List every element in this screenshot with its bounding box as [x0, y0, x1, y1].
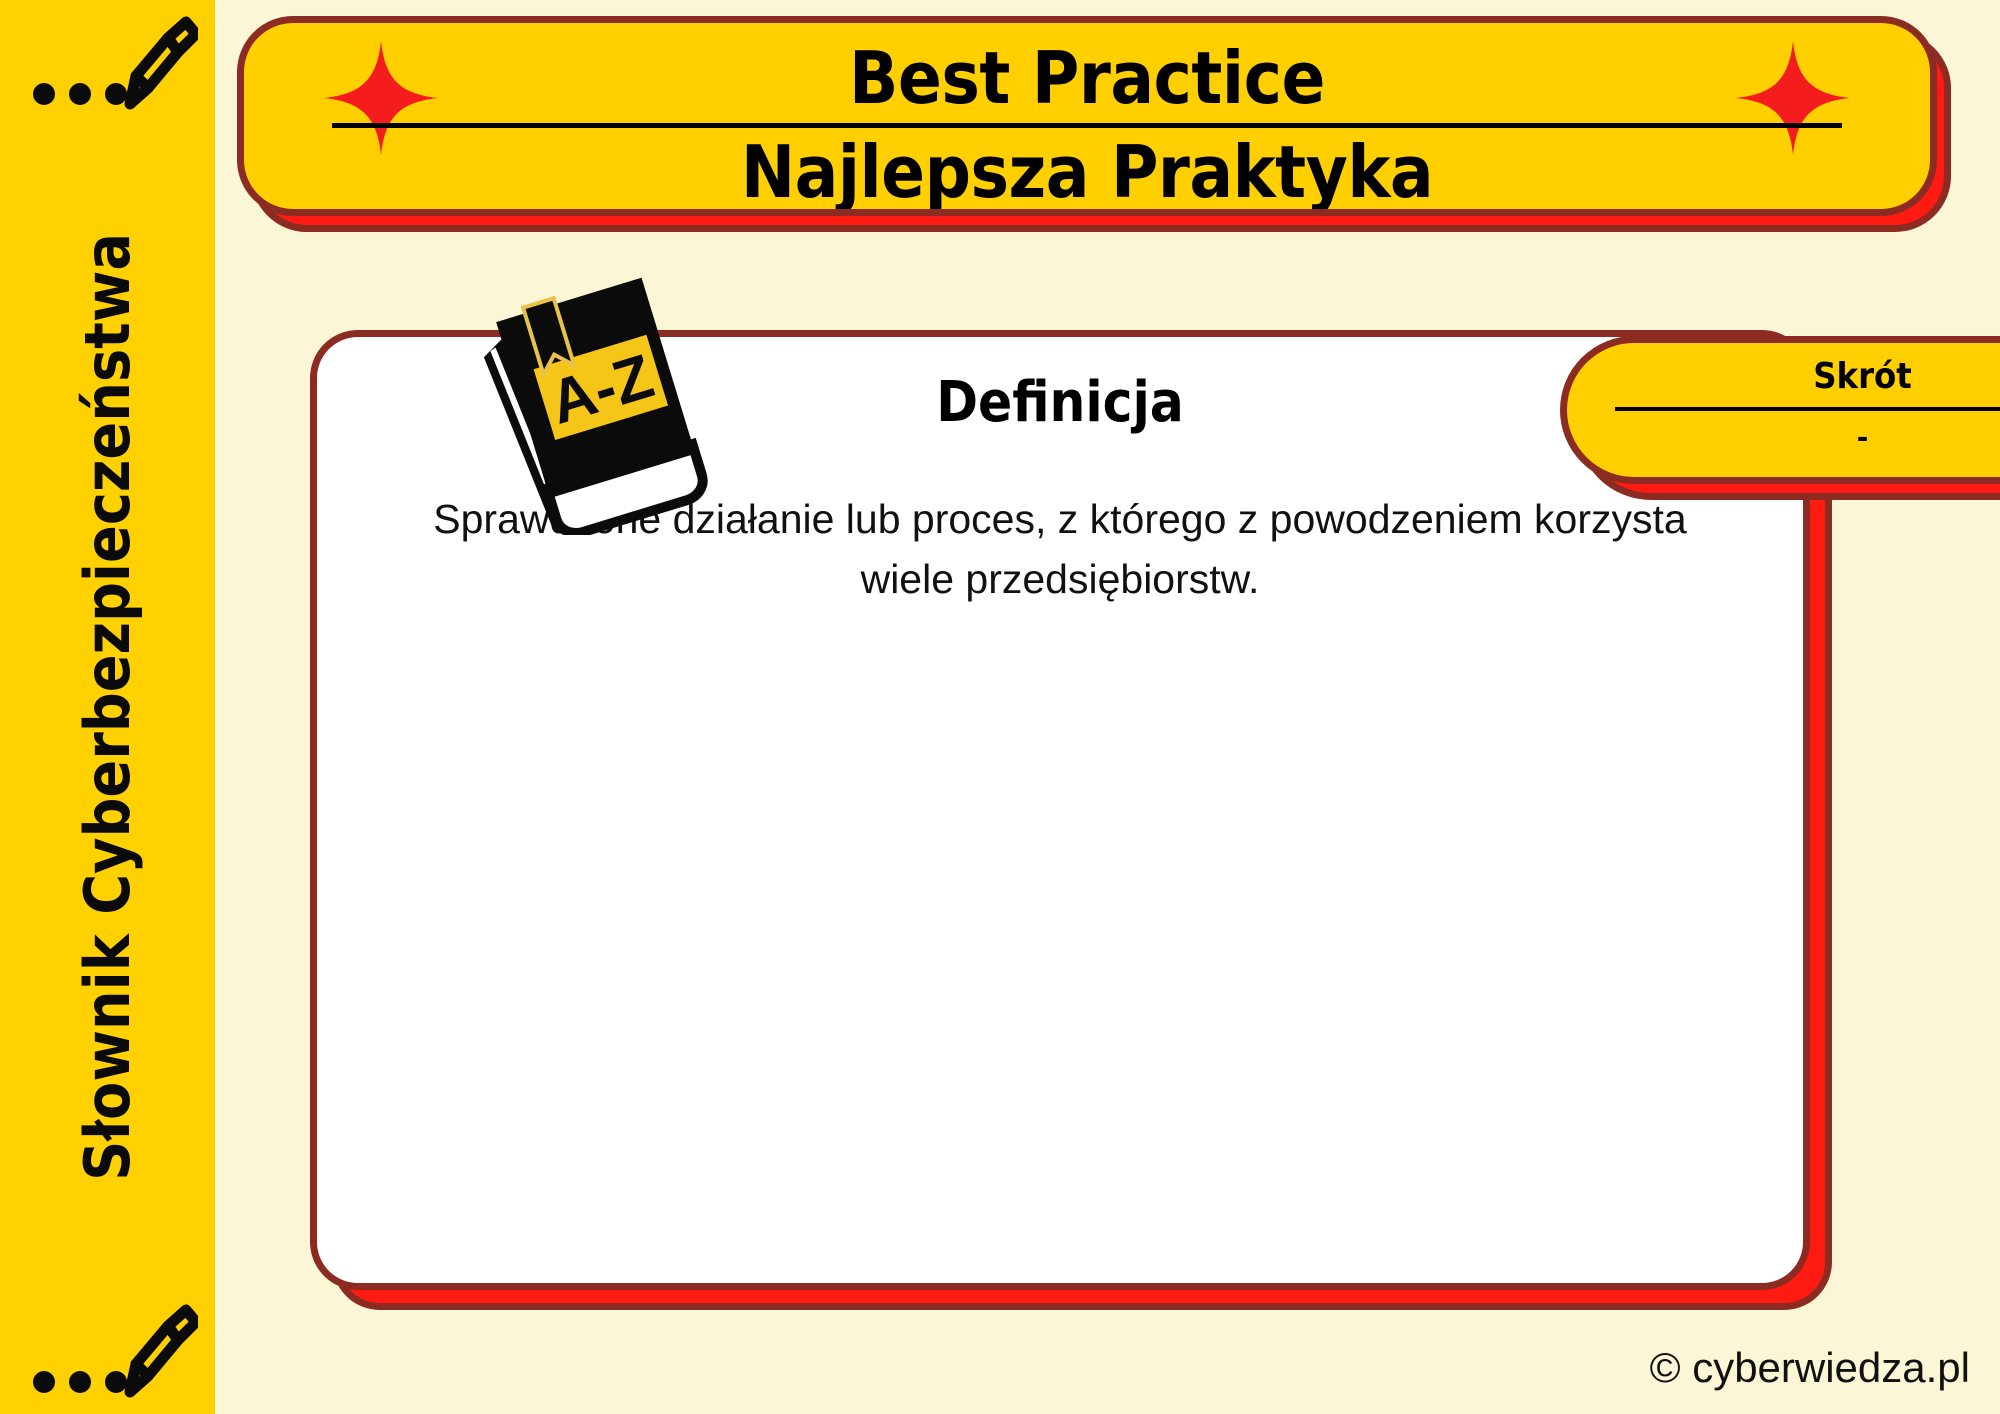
abbreviation-divider: [1615, 407, 2000, 411]
header-divider: [332, 123, 1842, 128]
sidebar-title: Słownik Cyberbezpieczeństwa: [0, 0, 215, 1414]
abbreviation-badge: Skrót -: [1560, 336, 2000, 484]
content-stage: Best Practice Najlepsza Praktyka Definic…: [215, 0, 2000, 1414]
az-book-icon: A-Z: [460, 255, 740, 535]
term-header-card: Best Practice Najlepsza Praktyka: [237, 16, 1937, 216]
footer-copyright: © cyberwiedza.pl: [1650, 1344, 1970, 1392]
abbreviation-label: Skrót: [1567, 357, 2000, 397]
term-polish: Najlepsza Praktyka: [324, 132, 1850, 212]
abbreviation-value: -: [1567, 415, 2000, 459]
term-english: Best Practice: [324, 39, 1850, 117]
sidebar: Słownik Cyberbezpieczeństwa: [0, 0, 215, 1414]
pencil-icon: [18, 1296, 198, 1406]
sidebar-bottom-decoration: [18, 1296, 198, 1406]
sidebar-title-text: Słownik Cyberbezpieczeństwa: [71, 233, 144, 1181]
header-card-face: Best Practice Najlepsza Praktyka: [237, 16, 1937, 216]
header-text-block: Best Practice Najlepsza Praktyka: [324, 39, 1850, 212]
